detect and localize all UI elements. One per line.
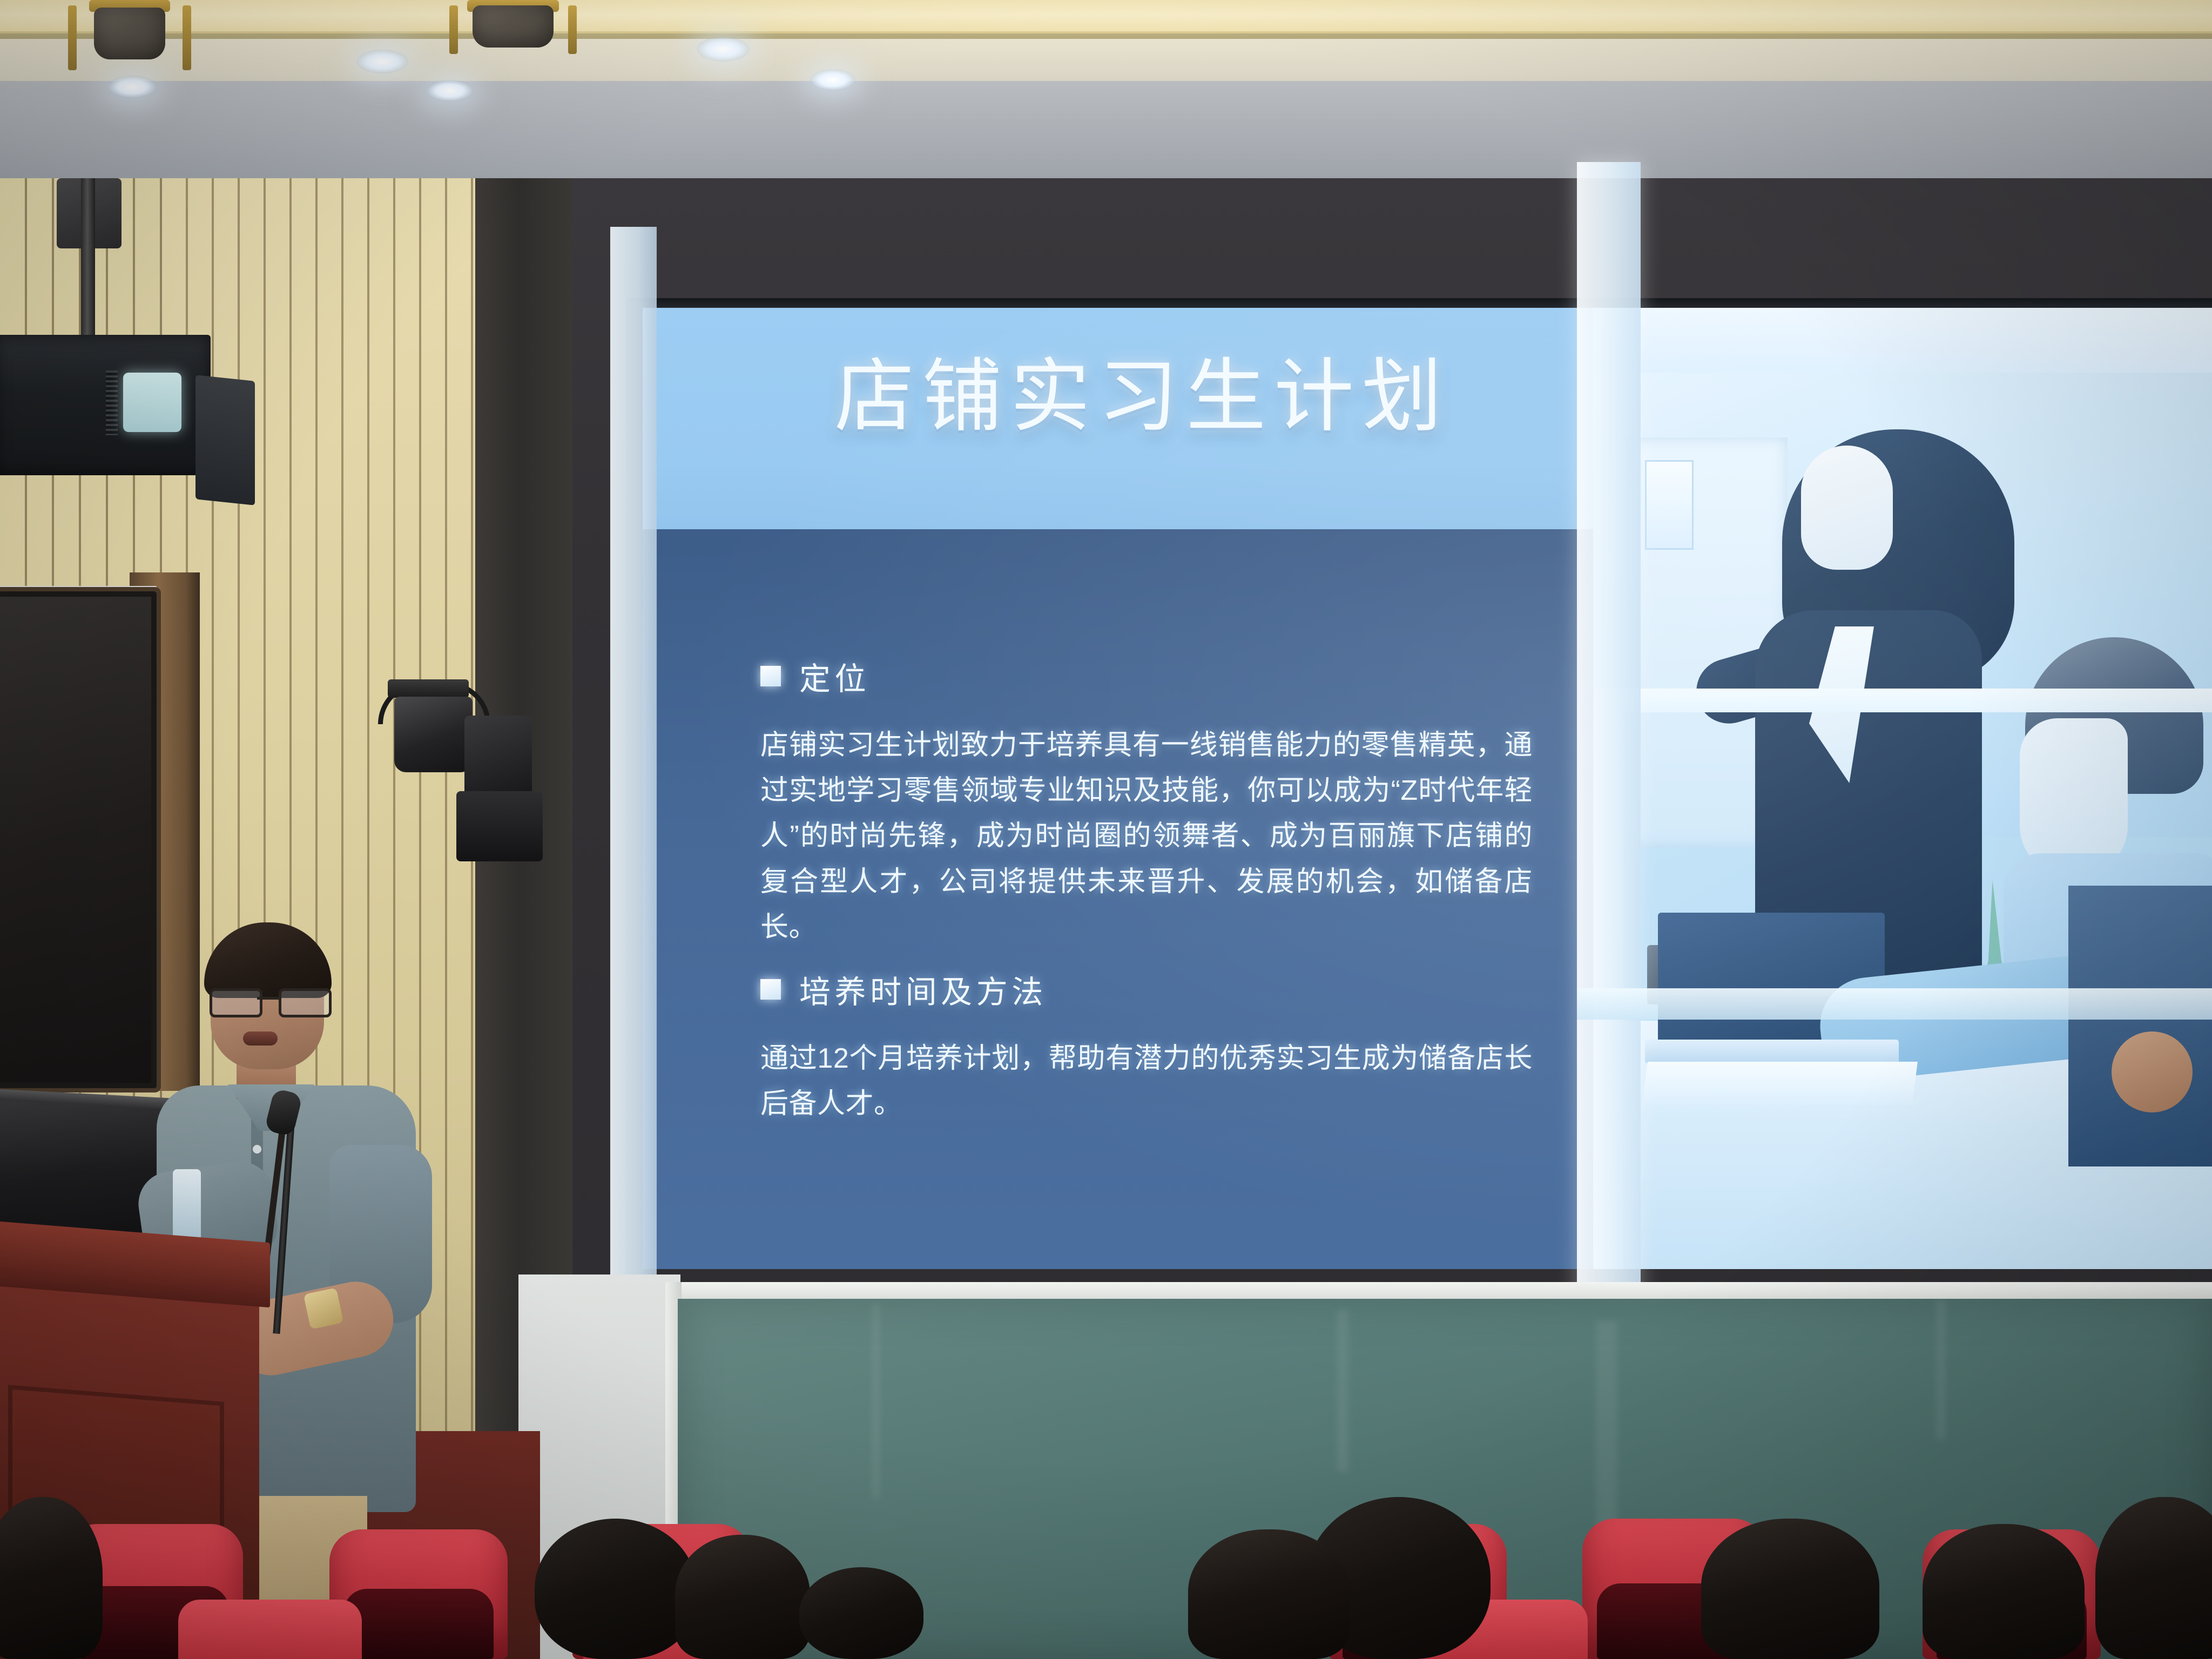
audience-head bbox=[1188, 1529, 1350, 1659]
stage-light-arm-a bbox=[449, 5, 458, 54]
glasses-icon bbox=[210, 988, 326, 1012]
stage-light-left bbox=[65, 0, 194, 59]
presentation-slide: 店铺实习生计划 定位 店铺实习生计划致力于培养具有一线销售能力的零售精英，通过实… bbox=[643, 308, 2212, 1269]
audience-head bbox=[799, 1567, 923, 1659]
photo-whiteboard-note bbox=[1645, 460, 1694, 550]
downlight-4 bbox=[697, 37, 750, 62]
downlight-3 bbox=[427, 80, 473, 102]
photo-top-margin bbox=[1593, 308, 2212, 383]
glasses-left-lens bbox=[210, 988, 262, 1017]
ceiling-cove-light bbox=[0, 0, 2212, 33]
photo-right-panel-hand bbox=[2112, 1031, 2193, 1112]
filled-square-bullet-icon bbox=[760, 979, 781, 1000]
screenshot-root: 店铺实习生计划 定位 店铺实习生计划致力于培养具有一线销售能力的零售精英，通过实… bbox=[0, 0, 2212, 1659]
chalkboard-rail bbox=[675, 1282, 2212, 1300]
wall-beam-horizontal bbox=[1577, 988, 2212, 1020]
speaker-mouth bbox=[243, 1031, 278, 1046]
stage-light-body bbox=[94, 8, 165, 59]
wall-pillar-left bbox=[610, 227, 657, 1437]
speaker-hair bbox=[204, 922, 332, 998]
water-bottle[interactable] bbox=[173, 1169, 201, 1239]
slide-section-1: 定位 店铺实习生计划致力于培养具有一线销售能力的零售精英，通过实地学习零售领域专… bbox=[760, 653, 1533, 950]
slide-section-2-heading: 培养时间及方法 bbox=[799, 967, 1047, 1012]
photo-laptop-base bbox=[1645, 1040, 1899, 1063]
downlight-1 bbox=[108, 76, 157, 98]
slide-section-2: 培养时间及方法 通过12个月培养计划，帮助有潜力的优秀实习生成为储备店长后备人才… bbox=[760, 967, 1533, 1127]
ceiling-panel bbox=[0, 81, 2212, 194]
camera-lens-housing bbox=[464, 716, 532, 797]
photo-desk-papers bbox=[1642, 1062, 1918, 1105]
av-mount-pole bbox=[81, 178, 95, 340]
camera-mount-bracket bbox=[388, 679, 469, 698]
audience-head bbox=[535, 1519, 697, 1659]
projection-screen[interactable]: 店铺实习生计划 定位 店铺实习生计划致力于培养具有一线销售能力的零售精英，通过实… bbox=[643, 308, 2212, 1269]
photo-horizontal-divider bbox=[1593, 689, 2212, 712]
av-indicator-screen bbox=[123, 373, 181, 432]
stage-light-arm-b bbox=[568, 5, 577, 54]
chalk-streak bbox=[1337, 1310, 1348, 1472]
camera-base bbox=[456, 791, 543, 861]
slide-photo-collage bbox=[1593, 308, 2212, 1269]
audience-head bbox=[675, 1535, 810, 1659]
wall-pillar-right bbox=[1577, 162, 1641, 1437]
lecture-hall-room: 店铺实习生计划 定位 店铺实习生计划致力于培养具有一线销售能力的零售精英，通过实… bbox=[0, 0, 2212, 1659]
speaker-shirt-button bbox=[253, 1145, 261, 1154]
slide-section-2-body: 通过12个月培养计划，帮助有潜力的优秀实习生成为储备店长后备人才。 bbox=[760, 1036, 1533, 1127]
wall-display-panel[interactable] bbox=[0, 591, 157, 1088]
slide-title: 店铺实习生计划 bbox=[834, 358, 1450, 437]
photo-right-panel-person bbox=[2068, 886, 2212, 1166]
slide-section-1-body: 店铺实习生计划致力于培养具有一线销售能力的零售精英，通过实地学习零售领域专业知识… bbox=[760, 723, 1533, 950]
slide-section-1-heading: 定位 bbox=[799, 653, 870, 699]
camera-body[interactable] bbox=[394, 697, 473, 772]
stage-light-body bbox=[473, 5, 554, 48]
downlight-2 bbox=[356, 50, 408, 73]
slide-section-1-heading-row: 定位 bbox=[760, 653, 1533, 699]
audience-seating bbox=[0, 1458, 2212, 1659]
stage-light-arm-a bbox=[68, 5, 77, 70]
photo-woman-face bbox=[1801, 446, 1893, 570]
av-vent-grille bbox=[106, 370, 118, 435]
slide-section-2-heading-row: 培养时间及方法 bbox=[760, 967, 1533, 1012]
glasses-right-lens bbox=[279, 988, 332, 1017]
stage-light-arm-b bbox=[183, 5, 191, 70]
chalk-streak bbox=[1936, 1299, 1946, 1439]
stage-light-right bbox=[443, 0, 583, 46]
downlight-5 bbox=[810, 69, 855, 91]
av-side-panel bbox=[195, 375, 255, 505]
audience-head bbox=[1701, 1519, 1879, 1659]
audience-head bbox=[0, 1497, 103, 1659]
photo-man-face bbox=[2020, 718, 2128, 875]
audience-head bbox=[2095, 1497, 2212, 1659]
audience-head bbox=[1923, 1524, 2085, 1659]
glasses-bridge bbox=[257, 997, 279, 1000]
seat-cushion[interactable] bbox=[178, 1600, 362, 1659]
filled-square-bullet-icon bbox=[760, 666, 781, 686]
speaker-wristwatch bbox=[304, 1287, 343, 1329]
